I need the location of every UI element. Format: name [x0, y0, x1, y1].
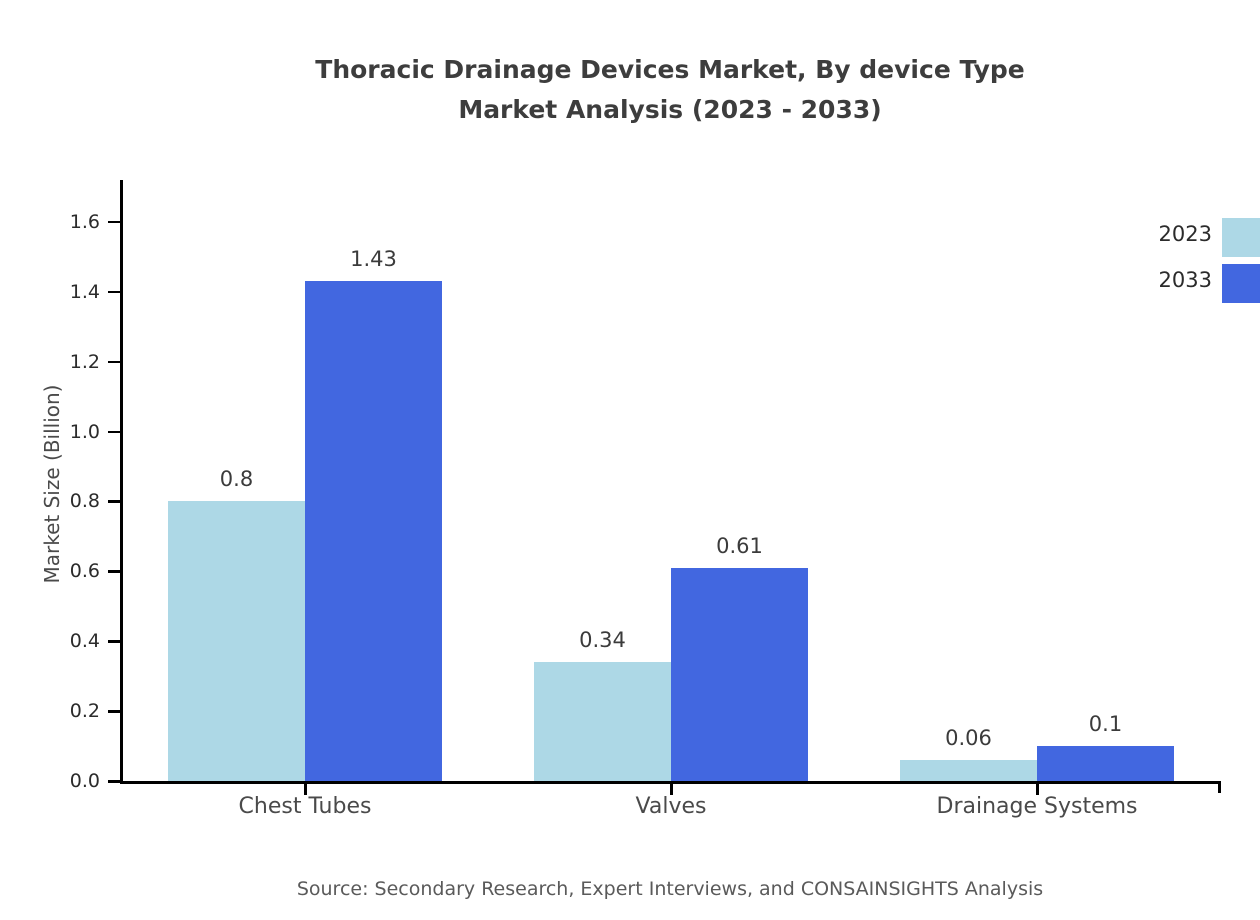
legend-item-2033[interactable]: 2033	[1130, 260, 1260, 300]
bar-drainage-systems-2033	[1037, 746, 1174, 781]
x-axis-tick-label: Drainage Systems	[857, 794, 1217, 819]
legend-label: 2023	[1130, 222, 1212, 246]
bar-value-label: 1.43	[274, 247, 474, 271]
x-axis-tick-label: Chest Tubes	[125, 794, 485, 819]
bar-value-label: 0.61	[640, 534, 840, 558]
legend-label: 2033	[1130, 268, 1212, 292]
bar-value-label: 0.1	[1006, 712, 1206, 736]
bar-drainage-systems-2023	[900, 760, 1037, 781]
x-axis-tick-label: Valves	[491, 794, 851, 819]
legend-item-2023[interactable]: 2023	[1130, 214, 1260, 254]
bar-valves-2033	[671, 568, 808, 781]
bar-series-layer: 0.81.430.340.610.060.1	[0, 180, 1260, 782]
chart-figure: Thoracic Drainage Devices Market, By dev…	[0, 0, 1260, 920]
legend-swatch	[1222, 218, 1260, 257]
x-axis-end-tick	[1218, 781, 1221, 793]
chart-title: Thoracic Drainage Devices Market, By dev…	[0, 50, 1260, 130]
legend-swatch	[1222, 264, 1260, 303]
bar-chest-tubes-2023	[168, 501, 305, 781]
chart-title-line-2: Market Analysis (2023 - 2033)	[0, 90, 1260, 130]
bar-valves-2023	[534, 662, 671, 781]
chart-legend: 20232033	[1130, 214, 1260, 310]
bar-chest-tubes-2033	[305, 281, 442, 781]
chart-title-line-1: Thoracic Drainage Devices Market, By dev…	[0, 50, 1260, 90]
source-note: Source: Secondary Research, Expert Inter…	[0, 878, 1260, 900]
